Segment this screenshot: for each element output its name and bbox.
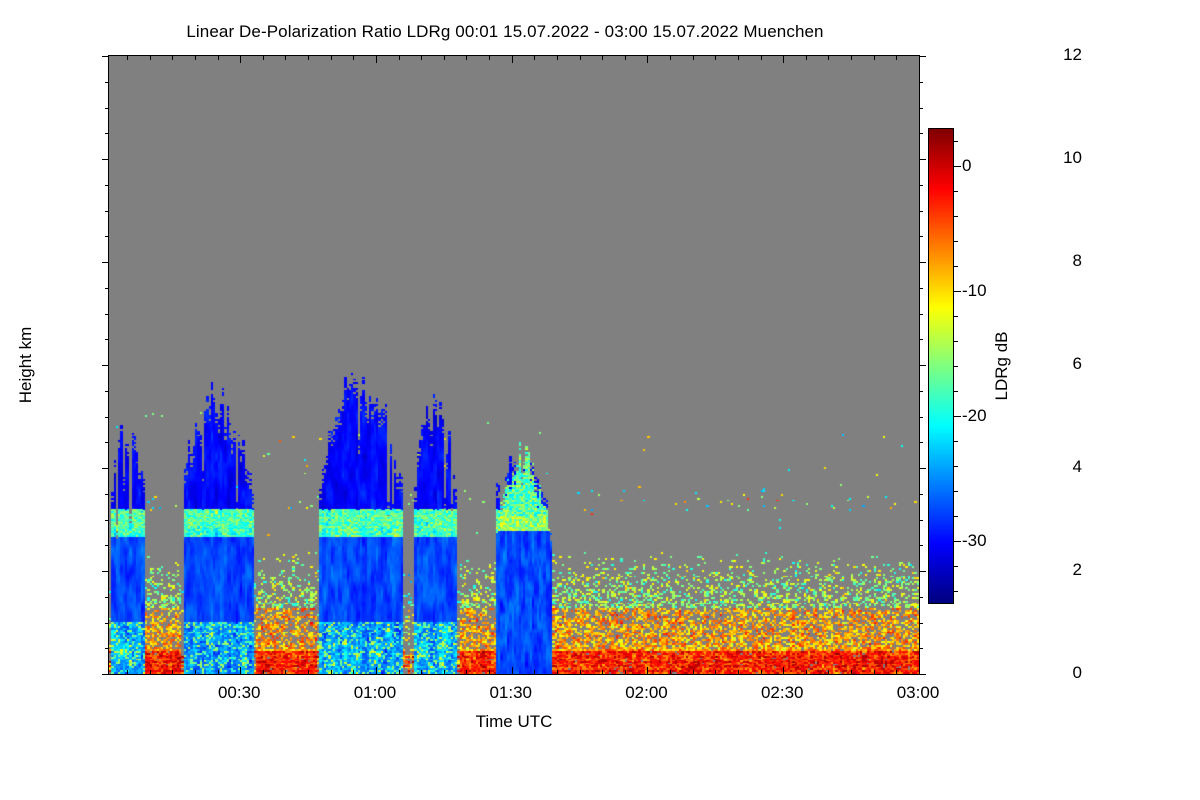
x-axis-minor-tick bbox=[670, 670, 671, 674]
colorbar-minor-tick bbox=[954, 266, 958, 267]
x-axis-tick bbox=[240, 667, 241, 674]
y-axis-minor-tick bbox=[105, 211, 109, 212]
y-axis-minor-tick bbox=[105, 314, 109, 315]
colorbar-title: LDRg dB bbox=[992, 332, 1012, 401]
y-axis-tick bbox=[102, 674, 109, 675]
x-axis-minor-tick-top bbox=[851, 56, 852, 60]
y-axis-minor-tick-right bbox=[919, 288, 923, 289]
x-axis-tick-label: 02:00 bbox=[625, 683, 668, 703]
ldr-heatmap-canvas bbox=[109, 56, 919, 674]
y-axis-minor-tick-right bbox=[919, 185, 923, 186]
y-axis-tick bbox=[102, 56, 109, 57]
colorbar-minor-tick bbox=[954, 566, 958, 567]
colorbar-minor-tick bbox=[954, 341, 958, 342]
y-axis-minor-tick bbox=[105, 442, 109, 443]
x-axis-minor-tick bbox=[693, 670, 694, 674]
y-axis-minor-tick-right bbox=[919, 236, 923, 237]
colorbar-tick-label: -20 bbox=[962, 406, 987, 426]
x-axis-minor-tick-top bbox=[331, 56, 332, 60]
colorbar-tick-label: 0 bbox=[962, 156, 971, 176]
colorbar-gradient bbox=[928, 128, 954, 604]
y-axis-minor-tick-right bbox=[919, 623, 923, 624]
x-axis-minor-tick bbox=[738, 670, 739, 674]
x-axis-tick-label: 01:30 bbox=[489, 683, 532, 703]
x-axis-minor-tick bbox=[353, 670, 354, 674]
x-axis-minor-tick bbox=[466, 670, 467, 674]
x-axis-tick-top bbox=[240, 56, 241, 63]
colorbar-tick bbox=[954, 166, 961, 167]
x-axis-minor-tick bbox=[534, 670, 535, 674]
x-axis-minor-tick bbox=[127, 670, 128, 674]
x-axis-minor-tick bbox=[625, 670, 626, 674]
y-axis-tick bbox=[102, 571, 109, 572]
y-axis-tick-right bbox=[919, 56, 926, 57]
y-axis-tick-label: 10 bbox=[1063, 148, 1082, 168]
x-axis-minor-tick bbox=[444, 670, 445, 674]
y-axis-minor-tick-right bbox=[919, 545, 923, 546]
x-axis-minor-tick-top bbox=[353, 56, 354, 60]
y-axis-minor-tick-right bbox=[919, 417, 923, 418]
x-axis-minor-tick-top bbox=[580, 56, 581, 60]
x-axis-minor-tick-top bbox=[285, 56, 286, 60]
x-axis-minor-tick-top bbox=[489, 56, 490, 60]
x-axis-tick-label: 03:00 bbox=[897, 683, 940, 703]
x-axis-minor-tick-top bbox=[715, 56, 716, 60]
y-axis-tick-right bbox=[919, 262, 926, 263]
y-axis-minor-tick-right bbox=[919, 494, 923, 495]
x-axis-minor-tick bbox=[195, 670, 196, 674]
x-axis-minor-tick bbox=[851, 670, 852, 674]
y-axis-minor-tick bbox=[105, 391, 109, 392]
y-axis-tick-right bbox=[919, 365, 926, 366]
y-axis-minor-tick-right bbox=[919, 314, 923, 315]
x-axis-minor-tick-top bbox=[218, 56, 219, 60]
x-axis-tick-label: 02:30 bbox=[761, 683, 804, 703]
x-axis-tick bbox=[783, 667, 784, 674]
x-axis-minor-tick bbox=[761, 670, 762, 674]
x-axis-minor-tick-top bbox=[738, 56, 739, 60]
x-axis-minor-tick-top bbox=[127, 56, 128, 60]
x-axis-minor-tick-top bbox=[150, 56, 151, 60]
x-axis-minor-tick bbox=[421, 670, 422, 674]
y-axis-tick-label: 4 bbox=[1073, 457, 1082, 477]
colorbar-tick-label: -10 bbox=[962, 281, 987, 301]
x-axis-minor-tick bbox=[331, 670, 332, 674]
y-axis-tick-label: 8 bbox=[1073, 251, 1082, 271]
y-axis-minor-tick bbox=[105, 108, 109, 109]
colorbar bbox=[928, 128, 954, 604]
y-axis-tick-right bbox=[919, 159, 926, 160]
x-axis-minor-tick-top bbox=[172, 56, 173, 60]
y-axis-minor-tick bbox=[105, 185, 109, 186]
x-axis-minor-tick-top bbox=[806, 56, 807, 60]
y-axis-tick bbox=[102, 365, 109, 366]
x-axis-minor-tick-top bbox=[693, 56, 694, 60]
x-axis-tick bbox=[512, 667, 513, 674]
x-axis-minor-tick bbox=[489, 670, 490, 674]
x-axis-minor-tick bbox=[874, 670, 875, 674]
x-axis-minor-tick-top bbox=[761, 56, 762, 60]
y-axis-tick-right bbox=[919, 571, 926, 572]
y-axis-tick bbox=[102, 159, 109, 160]
y-axis-tick bbox=[102, 262, 109, 263]
y-axis-minor-tick-right bbox=[919, 648, 923, 649]
y-axis-tick-label: 6 bbox=[1073, 354, 1082, 374]
y-axis-minor-tick bbox=[105, 133, 109, 134]
x-axis-minor-tick bbox=[557, 670, 558, 674]
colorbar-minor-tick bbox=[954, 216, 958, 217]
y-axis-minor-tick bbox=[105, 597, 109, 598]
x-axis-minor-tick bbox=[399, 670, 400, 674]
y-axis-minor-tick-right bbox=[919, 520, 923, 521]
x-axis-minor-tick-top bbox=[534, 56, 535, 60]
x-axis-tick bbox=[376, 667, 377, 674]
x-axis-minor-tick-top bbox=[625, 56, 626, 60]
x-axis-minor-tick-top bbox=[399, 56, 400, 60]
x-axis-minor-tick bbox=[828, 670, 829, 674]
y-axis-minor-tick-right bbox=[919, 108, 923, 109]
y-axis-minor-tick bbox=[105, 623, 109, 624]
x-axis-minor-tick bbox=[285, 670, 286, 674]
x-axis-minor-tick-top bbox=[308, 56, 309, 60]
x-axis-minor-tick bbox=[263, 670, 264, 674]
x-axis-minor-tick-top bbox=[444, 56, 445, 60]
colorbar-minor-tick bbox=[954, 491, 958, 492]
y-axis-title: Height km bbox=[16, 327, 36, 404]
x-axis-tick bbox=[647, 667, 648, 674]
x-axis-minor-tick-top bbox=[602, 56, 603, 60]
y-axis-tick-right bbox=[919, 468, 926, 469]
colorbar-tick-label: -30 bbox=[962, 531, 987, 551]
y-axis-minor-tick bbox=[105, 339, 109, 340]
y-axis-tick bbox=[102, 468, 109, 469]
colorbar-minor-tick bbox=[954, 391, 958, 392]
y-axis-minor-tick bbox=[105, 520, 109, 521]
y-axis-minor-tick-right bbox=[919, 391, 923, 392]
y-axis-minor-tick bbox=[105, 494, 109, 495]
y-axis-minor-tick bbox=[105, 236, 109, 237]
colorbar-minor-tick bbox=[954, 241, 958, 242]
y-axis-minor-tick bbox=[105, 288, 109, 289]
colorbar-minor-tick bbox=[954, 141, 958, 142]
y-axis-tick-label: 2 bbox=[1073, 560, 1082, 580]
x-axis-tick-top bbox=[647, 56, 648, 63]
x-axis-tick bbox=[919, 667, 920, 674]
x-axis-minor-tick bbox=[896, 670, 897, 674]
x-axis-tick-top bbox=[376, 56, 377, 63]
x-axis-minor-tick-top bbox=[670, 56, 671, 60]
x-axis-minor-tick bbox=[602, 670, 603, 674]
colorbar-minor-tick bbox=[954, 191, 958, 192]
x-axis-minor-tick bbox=[806, 670, 807, 674]
x-axis-minor-tick-top bbox=[557, 56, 558, 60]
y-axis-tick-label: 0 bbox=[1073, 663, 1082, 683]
x-axis-minor-tick-top bbox=[421, 56, 422, 60]
chart-title: Linear De-Polarization Ratio LDRg 00:01 … bbox=[0, 22, 1010, 42]
y-axis-minor-tick bbox=[105, 417, 109, 418]
x-axis-tick-top bbox=[512, 56, 513, 63]
y-axis-minor-tick-right bbox=[919, 133, 923, 134]
y-axis-minor-tick-right bbox=[919, 442, 923, 443]
colorbar-minor-tick bbox=[954, 316, 958, 317]
y-axis-minor-tick-right bbox=[919, 339, 923, 340]
x-axis-tick-label: 00:30 bbox=[218, 683, 261, 703]
x-axis-minor-tick-top bbox=[874, 56, 875, 60]
colorbar-minor-tick bbox=[954, 466, 958, 467]
x-axis-minor-tick bbox=[715, 670, 716, 674]
x-axis-minor-tick-top bbox=[896, 56, 897, 60]
x-axis-minor-tick bbox=[308, 670, 309, 674]
y-axis-tick-right bbox=[919, 674, 926, 675]
x-axis-minor-tick-top bbox=[263, 56, 264, 60]
y-axis-minor-tick-right bbox=[919, 597, 923, 598]
ldr-time-height-figure: Linear De-Polarization Ratio LDRg 00:01 … bbox=[0, 0, 1200, 800]
y-axis-minor-tick bbox=[105, 648, 109, 649]
x-axis-title: Time UTC bbox=[476, 712, 553, 732]
x-axis-tick-top bbox=[783, 56, 784, 63]
x-axis-minor-tick-top bbox=[828, 56, 829, 60]
colorbar-tick bbox=[954, 541, 961, 542]
y-axis-minor-tick-right bbox=[919, 211, 923, 212]
y-axis-minor-tick bbox=[105, 545, 109, 546]
x-axis-minor-tick-top bbox=[466, 56, 467, 60]
y-axis-minor-tick bbox=[105, 82, 109, 83]
colorbar-tick bbox=[954, 291, 961, 292]
x-axis-minor-tick bbox=[150, 670, 151, 674]
x-axis-minor-tick-top bbox=[195, 56, 196, 60]
colorbar-minor-tick bbox=[954, 441, 958, 442]
plot-area bbox=[108, 55, 920, 675]
colorbar-minor-tick bbox=[954, 516, 958, 517]
x-axis-tick-top bbox=[919, 56, 920, 63]
y-axis-minor-tick-right bbox=[919, 82, 923, 83]
y-axis-tick-label: 12 bbox=[1063, 45, 1082, 65]
colorbar-tick bbox=[954, 416, 961, 417]
x-axis-minor-tick bbox=[580, 670, 581, 674]
colorbar-minor-tick bbox=[954, 366, 958, 367]
colorbar-minor-tick bbox=[954, 591, 958, 592]
x-axis-minor-tick bbox=[172, 670, 173, 674]
x-axis-minor-tick bbox=[218, 670, 219, 674]
x-axis-tick-label: 01:00 bbox=[354, 683, 397, 703]
